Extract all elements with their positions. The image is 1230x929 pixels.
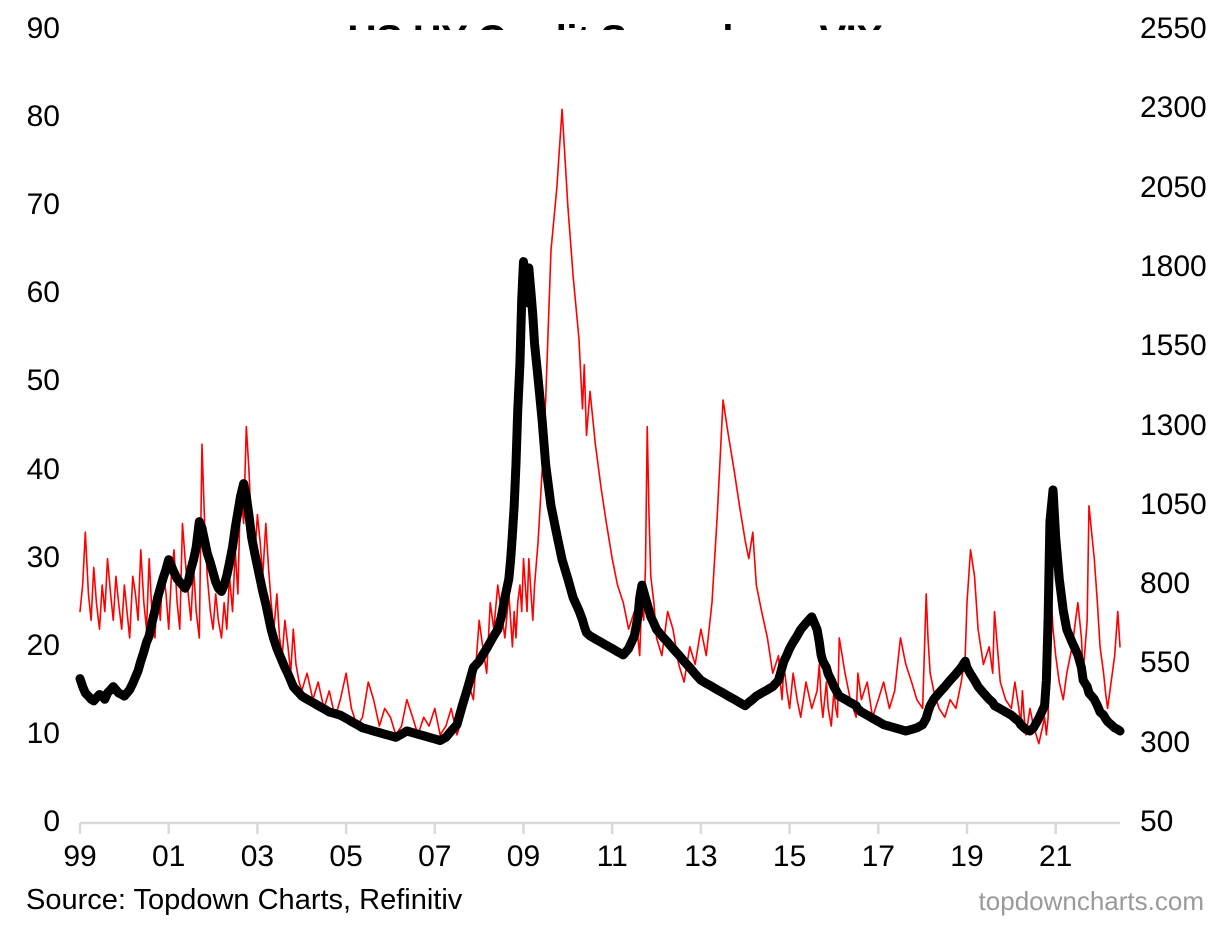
y-axis-right-tick: 1050 (1140, 488, 1230, 522)
y-axis-left-tick: 70 (8, 188, 60, 222)
x-axis-tick-label: 15 (760, 840, 820, 874)
x-axis-tick-label: 99 (50, 840, 110, 874)
x-axis-tick-label: 11 (582, 840, 642, 874)
y-axis-left-tick: 90 (8, 12, 60, 46)
y-axis-right-tick: 1300 (1140, 409, 1230, 443)
x-axis-tick-label: 01 (139, 840, 199, 874)
y-axis-left-tick: 10 (8, 717, 60, 751)
y-axis-left-tick: 50 (8, 364, 60, 398)
y-axis-right-tick: 550 (1140, 646, 1230, 680)
x-axis-tick-label: 13 (671, 840, 731, 874)
x-axis-tick-label: 21 (1026, 840, 1086, 874)
y-axis-left-tick: 30 (8, 541, 60, 575)
x-axis-tick-label: 05 (316, 840, 376, 874)
x-axis-tick-label: 03 (227, 840, 287, 874)
y-axis-right-tick: 2550 (1140, 12, 1230, 46)
y-axis-right-tick: 2300 (1140, 91, 1230, 125)
y-axis-right-tick: 1800 (1140, 250, 1230, 284)
y-axis-right-tick: 1550 (1140, 329, 1230, 363)
y-axis-right-tick: 2050 (1140, 171, 1230, 205)
y-axis-left-tick: 40 (8, 453, 60, 487)
chart-root: US HY Credit Spreads vs VIX CBOE VIX [LH… (0, 0, 1230, 929)
x-axis-tick-label: 17 (848, 840, 908, 874)
y-axis-right-tick: 50 (1140, 805, 1230, 839)
plot-area (80, 30, 1120, 825)
x-axis-tick-label: 09 (493, 840, 553, 874)
y-axis-right-tick: 300 (1140, 726, 1230, 760)
y-axis-left-tick: 80 (8, 100, 60, 134)
x-axis-tick-label: 07 (405, 840, 465, 874)
y-axis-right-tick: 800 (1140, 567, 1230, 601)
source-note: Source: Topdown Charts, Refinitiv (26, 884, 462, 917)
chart-canvas (0, 0, 1230, 929)
watermark: topdowncharts.com (979, 886, 1204, 917)
y-axis-left-tick: 20 (8, 629, 60, 663)
y-axis-left-tick: 0 (8, 805, 60, 839)
y-axis-left-tick: 60 (8, 276, 60, 310)
x-axis-tick-label: 19 (937, 840, 997, 874)
